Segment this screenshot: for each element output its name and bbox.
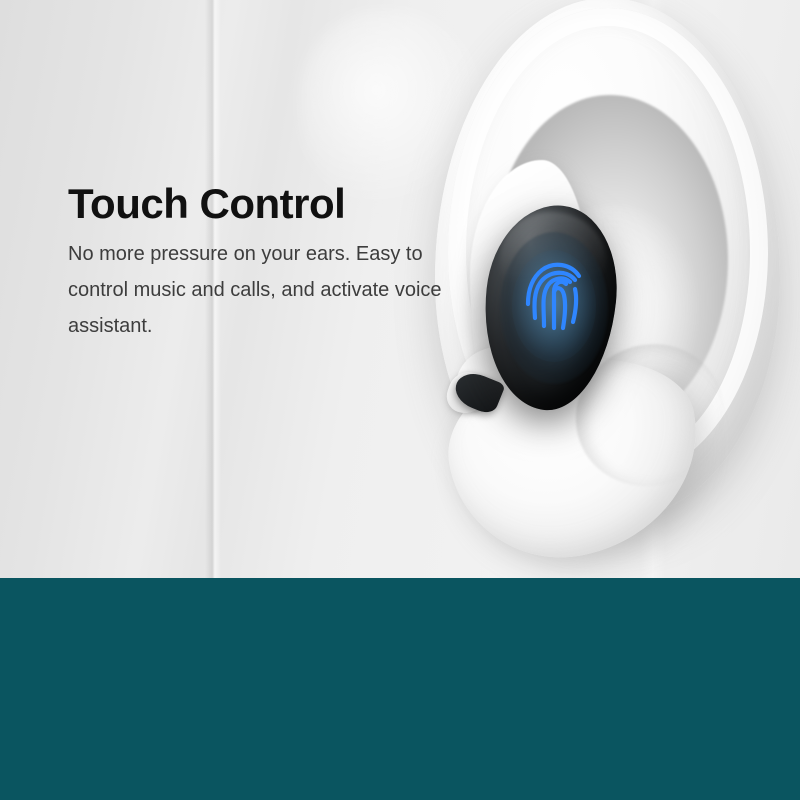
- page-title: Touch Control: [68, 180, 345, 228]
- fingerprint-icon: [524, 258, 584, 332]
- hero-description: No more pressure on your ears. Easy to c…: [68, 236, 460, 344]
- feature-panel: Play/Pause Music Single Touch Answer/End…: [0, 578, 800, 800]
- hero-photo: Touch Control No more pressure on your e…: [0, 0, 800, 578]
- product-feature-image: Touch Control No more pressure on your e…: [0, 0, 800, 800]
